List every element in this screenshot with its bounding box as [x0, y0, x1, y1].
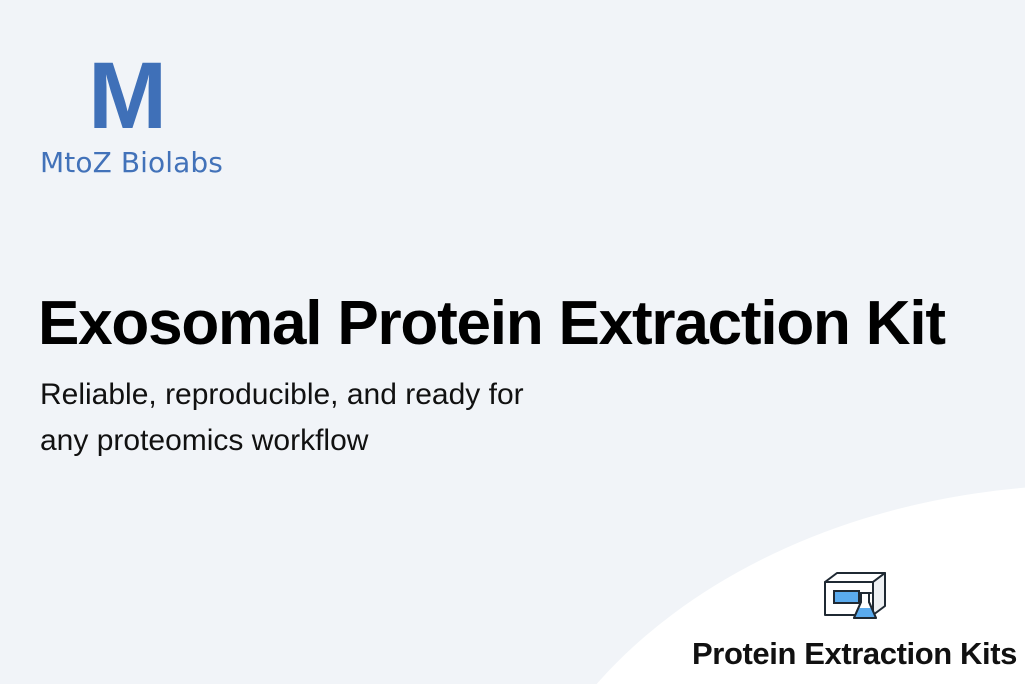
kit-box-flask-icon — [815, 568, 891, 628]
page-title: Exosomal Protein Extraction Kit — [38, 288, 945, 360]
product-caption: Protein Extraction Kits — [597, 634, 1017, 674]
product-badge: Protein Extraction Kits — [597, 568, 1017, 674]
subtitle-line-1: Reliable, reproducible, and ready for — [40, 372, 524, 418]
logo-mark-letter: M — [88, 52, 370, 140]
brand-logo[interactable]: M MtoZ Biolabs — [40, 52, 370, 180]
promo-banner: M MtoZ Biolabs Exosomal Protein Extracti… — [0, 0, 1025, 684]
page-subtitle: Reliable, reproducible, and ready for an… — [40, 372, 524, 464]
subtitle-line-2: any proteomics workflow — [40, 418, 524, 464]
logo-wordmark: MtoZ Biolabs — [40, 146, 370, 180]
